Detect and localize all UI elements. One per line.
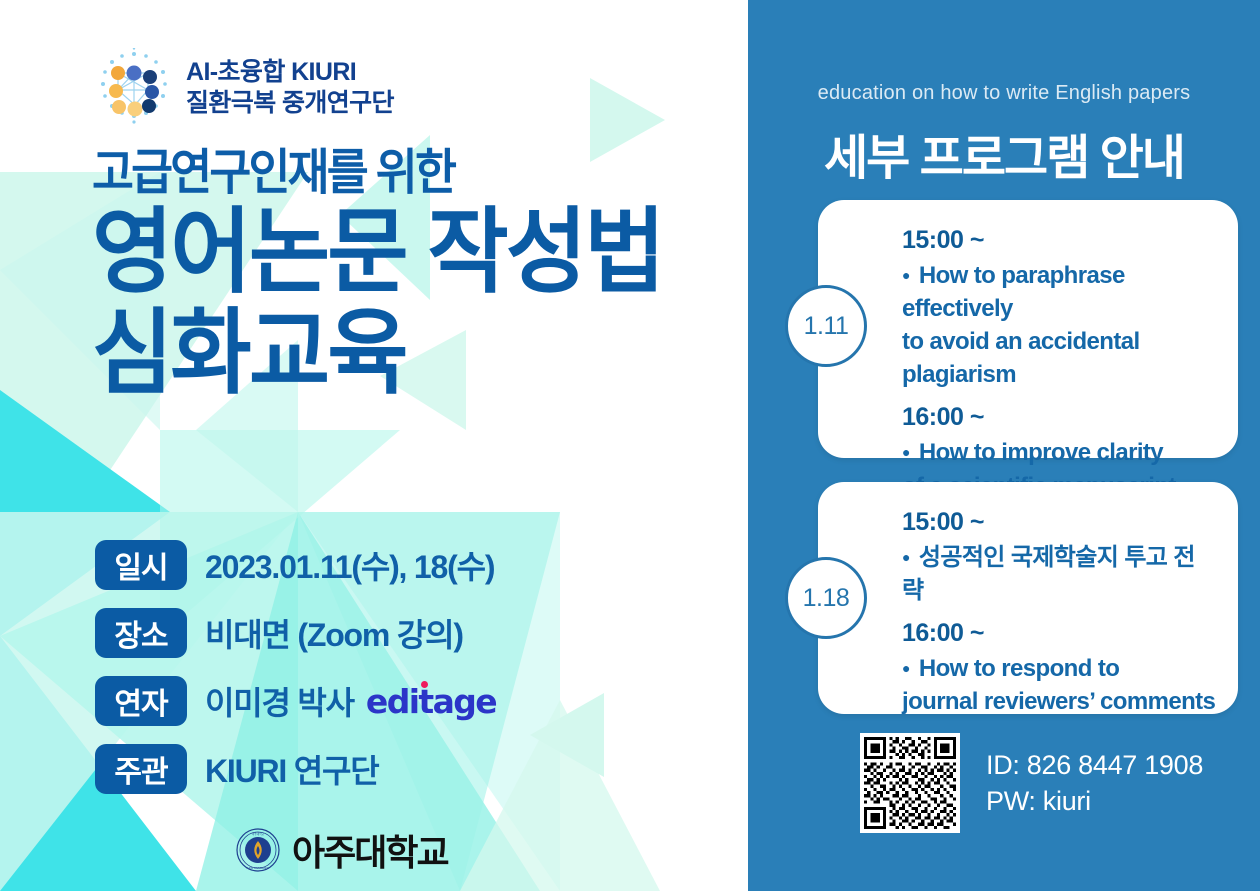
info-value-location: 비대면 (Zoom 강의) [205,610,463,656]
zoom-credentials: ID: 826 8447 1908 PW: kiuri [986,747,1203,820]
info-row-location: 장소 비대면 (Zoom 강의) [95,608,715,658]
info-value-speaker: 이미경 박사 editage [205,678,496,724]
network-nodes-icon [96,48,172,128]
info-tag-location: 장소 [95,608,187,658]
ajou-university-seal-icon: 아주대학교 AJOU UNIVERSITY [236,828,280,872]
program-1-slot-1-body: How to paraphrase effectively to avoid a… [902,259,1216,391]
program-2-slot-2-time: 16:00 ~ [902,619,1216,648]
poster-root: AI-초융합 KIURI 질환극복 중개연구단 고급연구인재를 위한 영어논문 … [0,0,1260,891]
info-value-host: KIURI 연구단 [205,746,379,792]
kiuri-logo-text: AI-초융합 KIURI 질환극복 중개연구단 [186,58,394,119]
qr-code-icon[interactable] [860,733,960,833]
event-info-list: 일시 2023.01.11(수), 18(수) 장소 비대면 (Zoom 강의)… [95,540,715,812]
kiuri-logo: AI-초융합 KIURI 질환극복 중개연구단 [96,46,496,130]
editage-logo-dot [421,681,428,688]
info-value-date-text: 2023.01.11(수), 18(수) [205,542,494,588]
program-2-slot-2-line-2: journal reviewers’ comments [902,685,1216,718]
zoom-password: PW: kiuri [986,783,1203,819]
info-row-speaker: 연자 이미경 박사 editage [95,676,715,726]
headline-main-line2: 심화교육 [92,304,700,403]
program-2-slot-2-line-1: How to respond to [902,652,1216,685]
info-value-host-text: KIURI 연구단 [205,746,379,792]
headline-main-line1: 영어논문 작성법 [92,203,700,302]
info-tag-speaker: 연자 [95,676,187,726]
kiuri-logo-line1: AI-초융합 KIURI [186,58,394,88]
program-2-slot-1-body: 성공적인 국제학술지 투고 전략 [902,541,1216,607]
zoom-meeting-id: ID: 826 8447 1908 [986,747,1203,783]
english-subtitle: education on how to write English papers [748,82,1260,105]
program-2-slot-2-body: How to respond to journal reviewers’ com… [902,652,1216,718]
program-1-slot-1-line-2: to avoid an accidental plagiarism [902,325,1216,391]
info-value-location-text: 비대면 (Zoom 강의) [205,610,463,656]
program-card-2: 15:00 ~ 성공적인 국제학술지 투고 전략 16:00 ~ How to … [818,482,1238,714]
date-badge-2: 1.18 [785,557,867,639]
svg-text:AJOU UNIVERSITY: AJOU UNIVERSITY [246,866,269,870]
info-value-speaker-text: 이미경 박사 [205,678,354,724]
program-card-1: 15:00 ~ How to paraphrase effectively to… [818,200,1238,458]
kiuri-logo-line2: 질환극복 중개연구단 [186,89,394,119]
editage-logo: editage [366,682,496,721]
info-row-host: 주관 KIURI 연구단 [95,744,715,794]
date-badge-1: 1.11 [785,285,867,367]
program-2-slot-1-time: 15:00 ~ [902,508,1216,537]
program-2-slot-1-line-1: 성공적인 국제학술지 투고 전략 [902,541,1216,607]
svg-text:아주대학교: 아주대학교 [252,832,265,836]
program-card-2-content: 15:00 ~ 성공적인 국제학술지 투고 전략 16:00 ~ How to … [818,482,1238,738]
program-1-slot-1-time: 15:00 ~ [902,226,1216,255]
ajou-university-name: 아주대학교 [292,824,448,876]
zoom-access-block: ID: 826 8447 1908 PW: kiuri [860,733,1203,833]
program-2-slot-1: 15:00 ~ 성공적인 국제학술지 투고 전략 [902,508,1216,607]
program-card-1-content: 15:00 ~ How to paraphrase effectively to… [818,200,1238,523]
info-tag-host: 주관 [95,744,187,794]
editage-logo-text: editage [366,682,496,721]
program-1-slot-1: 15:00 ~ How to paraphrase effectively to… [902,226,1216,391]
right-panel: education on how to write English papers… [748,0,1260,891]
program-1-slot-1-line-1: How to paraphrase effectively [902,259,1216,325]
left-panel: AI-초융합 KIURI 질환극복 중개연구단 고급연구인재를 위한 영어논문 … [0,0,748,891]
program-section-title: 세부 프로그램 안내 [748,118,1260,188]
ajou-university-logo: 아주대학교 AJOU UNIVERSITY 아주대학교 [236,824,448,876]
info-row-date: 일시 2023.01.11(수), 18(수) [95,540,715,590]
program-2-slot-2: 16:00 ~ How to respond to journal review… [902,619,1216,718]
program-1-slot-2-line-1: How to improve clarity [902,436,1216,469]
headline-subtitle: 고급연구인재를 위한 [92,148,687,199]
page-title: 고급연구인재를 위한 영어논문 작성법 심화교육 [92,148,732,402]
info-value-date: 2023.01.11(수), 18(수) [205,542,494,588]
program-1-slot-2-time: 16:00 ~ [902,403,1216,432]
info-tag-date: 일시 [95,540,187,590]
